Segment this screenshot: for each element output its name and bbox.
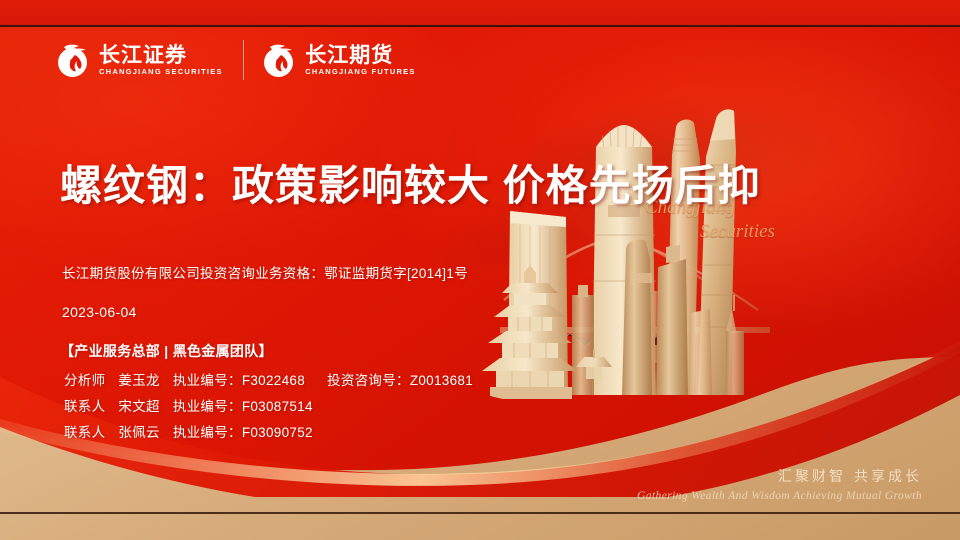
logo-changjiang-securities: 长江证券 CHANGJIANG SECURITIES: [58, 43, 223, 77]
contact-row: 联系人张佩云执业编号：F03090752: [64, 420, 473, 446]
analyst-cert-value: F3022468: [242, 373, 305, 388]
contact-cert-label: 执业编号：: [173, 399, 242, 414]
contact-cert-value: F03087514: [242, 399, 313, 414]
license-text: 长江期货股份有限公司投资咨询业务资格：鄂证监期货字[2014]1号: [62, 262, 468, 282]
analyst-consult-label: 投资咨询号：: [327, 373, 410, 388]
presentation-slide: 长江证券 CHANGJIANG SECURITIES 长江期货 CHANGJIA…: [0, 0, 960, 540]
contact-cert-label: 执业编号：: [173, 425, 242, 440]
analyst-list: 分析师姜玉龙执业编号：F3022468投资咨询号：Z0013681 联系人宋文超…: [64, 368, 473, 446]
top-hairline: [0, 25, 960, 27]
analyst-consult-value: Z0013681: [410, 373, 473, 388]
logo-divider: [243, 40, 245, 80]
stepped-tower: [656, 245, 688, 395]
top-band: [0, 0, 960, 25]
changjiang-flame-emblem-icon: [264, 43, 298, 77]
slide-title: 螺纹钢：政策影响较大 价格先扬后抑: [60, 152, 840, 213]
footer-slogan-en: Gathering Wealth And Wisdom Achieving Mu…: [637, 490, 922, 502]
team-label: 【产业服务总部 | 黑色金属团队】: [60, 341, 273, 361]
footer-slogan-cn: 汇聚财智共享成长: [637, 466, 922, 486]
analyst-name: 姜玉龙: [118, 373, 159, 388]
analyst-cert-label: 执业编号：: [173, 373, 242, 388]
analyst-row: 分析师姜玉龙执业编号：F3022468投资咨询号：Z0013681: [64, 368, 473, 394]
slide-date: 2023-06-04: [62, 304, 137, 320]
footer-slogan-cn-left: 汇聚财智: [778, 468, 846, 484]
bottom-hairline: [0, 512, 960, 514]
contact-name: 宋文超: [118, 399, 159, 414]
logo-bar: 长江证券 CHANGJIANG SECURITIES 长江期货 CHANGJIA…: [58, 40, 416, 80]
logo-cn-name: 长江期货: [305, 45, 415, 67]
logo-changjiang-futures: 长江期货 CHANGJIANG FUTURES: [264, 43, 415, 77]
contact-role: 联系人: [64, 425, 105, 440]
footer-slogan: 汇聚财智共享成长 Gathering Wealth And Wisdom Ach…: [637, 466, 922, 502]
contact-cert-value: F03090752: [242, 425, 313, 440]
logo-en-name: CHANGJIANG FUTURES: [305, 68, 415, 76]
contact-role: 联系人: [64, 399, 105, 414]
watermark-line-2: Securities: [700, 220, 775, 244]
changjiang-flame-emblem-icon: [58, 43, 92, 77]
contact-name: 张佩云: [118, 425, 159, 440]
logo-en-name: CHANGJIANG SECURITIES: [99, 68, 223, 76]
rounded-tower: [622, 239, 652, 395]
logo-cn-name: 长江证券: [99, 45, 223, 67]
footer-slogan-cn-right: 共享成长: [854, 468, 922, 484]
analyst-role: 分析师: [64, 373, 105, 388]
contact-row: 联系人宋文超执业编号：F03087514: [64, 394, 473, 420]
wuhan-skyline-illustration: [480, 95, 960, 425]
